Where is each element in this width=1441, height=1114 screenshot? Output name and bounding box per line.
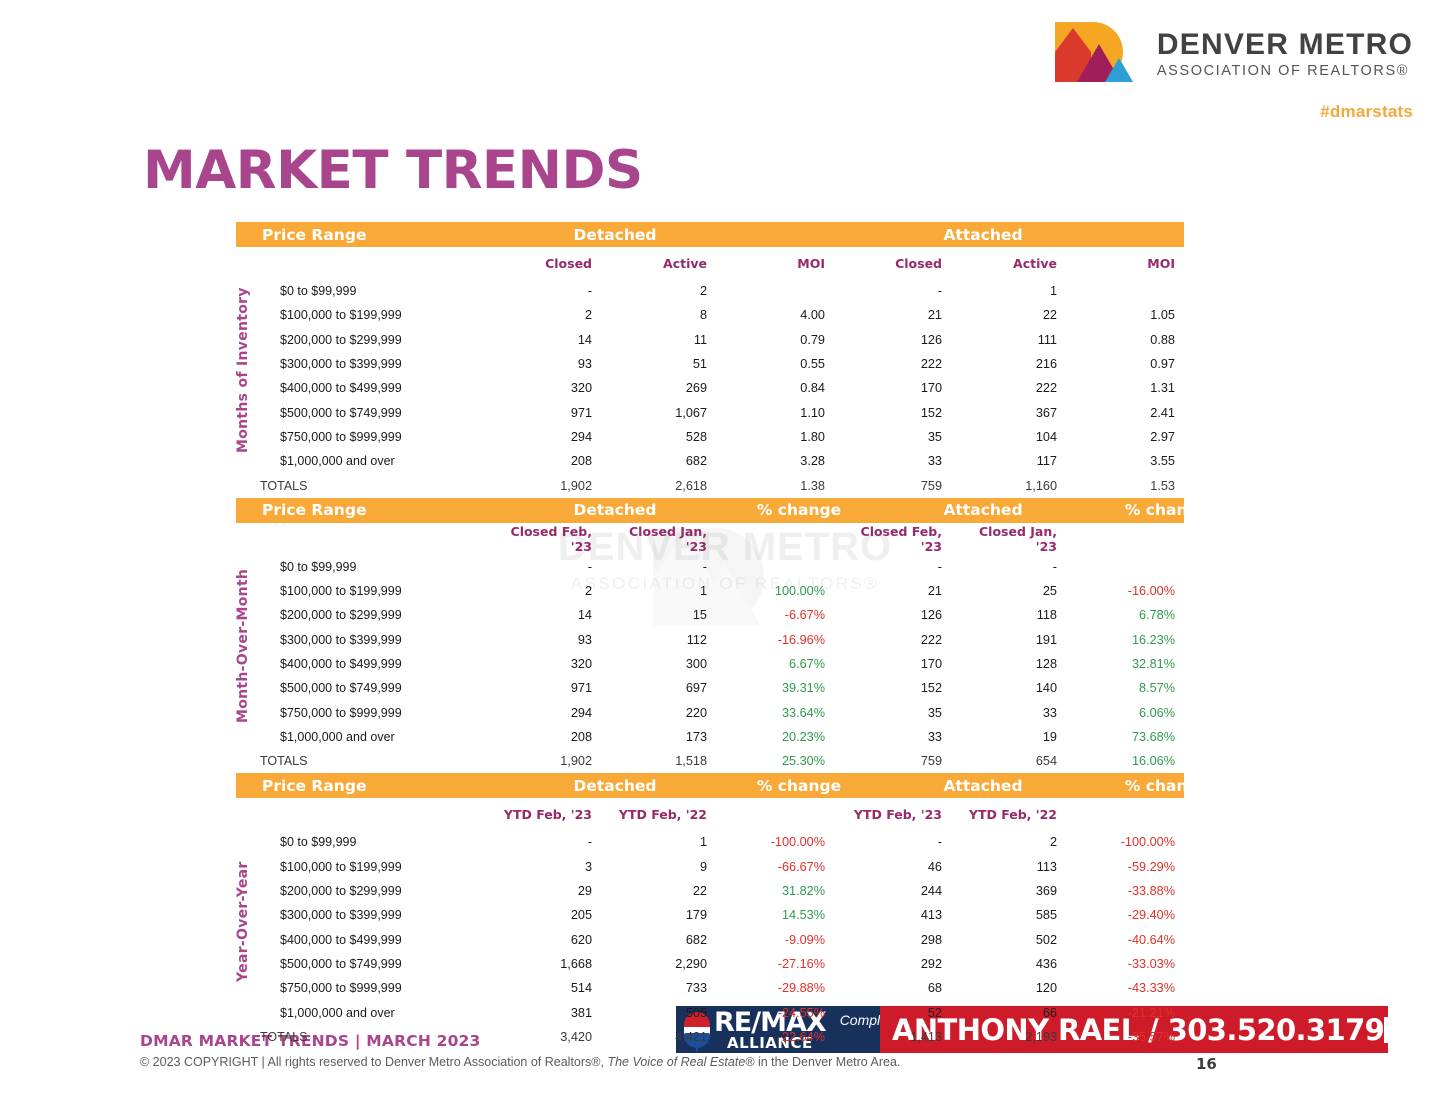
subheader-attached-jan: Closed Jan, '23	[956, 524, 1071, 554]
cell-detached-current: -	[491, 560, 606, 574]
cell-attached-pct-change: -16.00%	[1071, 584, 1191, 598]
cell-attached-pct-change: 8.57%	[1071, 681, 1191, 695]
cell-attached-prior: 654	[956, 754, 1071, 768]
equal-housing-icon: ⌂	[1384, 1017, 1388, 1043]
cell-detached-current: 93	[491, 633, 606, 647]
cell-attached-active: 111	[956, 333, 1071, 347]
table-row: $1,000,000 and over381505-24.55%5266-21.…	[236, 1000, 1184, 1024]
cell-detached-pct-change: 25.30%	[721, 754, 841, 768]
cell-attached-current: 21	[841, 584, 956, 598]
cell-attached-current: 68	[841, 981, 956, 995]
logo-subtitle: ASSOCIATION OF REALTORS®	[1157, 63, 1413, 79]
band-attached: Attached	[859, 777, 1107, 795]
band-attached: Attached	[859, 501, 1107, 519]
band-detached: Detached	[491, 226, 739, 244]
row-price-range-label: $750,000 to $999,999	[236, 430, 491, 444]
cell-attached-prior: 2,193	[956, 1030, 1071, 1044]
row-price-range-label: $0 to $99,999	[236, 284, 491, 298]
cell-detached-moi: 0.55	[721, 357, 841, 371]
hashtag-label: #dmarstats	[1320, 102, 1413, 122]
band-detached: Detached	[491, 777, 739, 795]
table-row: $400,000 to $499,999620682-9.09%298502-4…	[236, 928, 1184, 952]
cell-detached-pct-change: -66.67%	[721, 860, 841, 874]
cell-attached-pct-change: -33.03%	[1071, 957, 1191, 971]
cell-attached-current: -	[841, 835, 956, 849]
cell-detached-closed: 208	[491, 454, 606, 468]
cell-attached-active: 216	[956, 357, 1071, 371]
row-price-range-label: $300,000 to $399,999	[236, 908, 491, 922]
cell-attached-closed: -	[841, 284, 956, 298]
cell-attached-moi: 3.55	[1071, 454, 1191, 468]
cell-attached-current: 244	[841, 884, 956, 898]
cell-attached-current: 292	[841, 957, 956, 971]
row-price-range-label: $500,000 to $749,999	[236, 681, 491, 695]
row-price-range-label: $750,000 to $999,999	[236, 706, 491, 720]
cell-attached-current: 35	[841, 706, 956, 720]
cell-attached-active: 1,160	[956, 479, 1071, 493]
cell-detached-pct-change: 39.31%	[721, 681, 841, 695]
cell-detached-closed: -	[491, 284, 606, 298]
cell-attached-prior: 33	[956, 706, 1071, 720]
band-price-range: Price Range	[236, 501, 491, 519]
cell-detached-active: 8	[606, 308, 721, 322]
cell-attached-current: 152	[841, 681, 956, 695]
cell-attached-prior: 436	[956, 957, 1071, 971]
cell-attached-moi: 2.41	[1071, 406, 1191, 420]
subheader-detached-ytd22: YTD Feb, '22	[606, 807, 721, 822]
cell-detached-current: 1,668	[491, 957, 606, 971]
cell-detached-pct-change: -16.96%	[721, 633, 841, 647]
row-price-range-label: $400,000 to $499,999	[236, 657, 491, 671]
rows-year-over-year: $0 to $99,999-1-100.00%-2-100.00%$100,00…	[236, 830, 1184, 1049]
cell-attached-current: 1,413	[841, 1030, 956, 1044]
row-price-range-label: $500,000 to $749,999	[236, 406, 491, 420]
cell-detached-pct-change: -9.09%	[721, 933, 841, 947]
cell-detached-pct-change: 100.00%	[721, 584, 841, 598]
cell-attached-prior: 25	[956, 584, 1071, 598]
cell-detached-active: 2,618	[606, 479, 721, 493]
cell-attached-moi: 2.97	[1071, 430, 1191, 444]
cell-attached-pct-change: 6.06%	[1071, 706, 1191, 720]
cell-detached-prior: 9	[606, 860, 721, 874]
cell-attached-moi: 0.88	[1071, 333, 1191, 347]
cell-detached-moi: 1.80	[721, 430, 841, 444]
cell-detached-pct-change: -6.67%	[721, 608, 841, 622]
subheader-attached-closed: Closed	[841, 256, 956, 271]
row-price-range-label: $100,000 to $199,999	[236, 308, 491, 322]
cell-detached-closed: 294	[491, 430, 606, 444]
table-row: $400,000 to $499,9993202690.841702221.31	[236, 376, 1184, 400]
band-price-range: Price Range	[236, 777, 491, 795]
cell-attached-prior: -	[956, 560, 1071, 574]
cell-attached-pct-change: 6.78%	[1071, 608, 1191, 622]
band-pct-change-attached: % change	[1107, 777, 1227, 795]
band-price-range: Price Range	[236, 226, 491, 244]
side-label-months-of-inventory: Months of Inventory	[235, 287, 251, 453]
subheader-row-month-over-month: Closed Feb, '23 Closed Jan, '23 Closed F…	[236, 523, 1184, 555]
table-row: $1,000,000 and over20817320.23%331973.68…	[236, 725, 1184, 749]
row-price-range-label: TOTALS	[236, 479, 491, 493]
subheader-attached-ytd23: YTD Feb, '23	[841, 807, 956, 822]
section-year-over-year: Year-Over-Year Price Range Detached % ch…	[236, 773, 1184, 1049]
table-row: $500,000 to $749,9991,6682,290-27.16%292…	[236, 952, 1184, 976]
cell-detached-prior: 1	[606, 584, 721, 598]
cell-detached-pct-change: 14.53%	[721, 908, 841, 922]
row-price-range-label: TOTALS	[236, 754, 491, 768]
cell-attached-closed: 152	[841, 406, 956, 420]
table-row: $100,000 to $199,99921100.00%2125-16.00%	[236, 579, 1184, 603]
rows-month-over-month: $0 to $99,999----$100,000 to $199,999211…	[236, 555, 1184, 774]
cell-detached-closed: 1,902	[491, 479, 606, 493]
band-pct-change-detached: % change	[739, 501, 859, 519]
table-row: $400,000 to $499,9993203006.67%17012832.…	[236, 652, 1184, 676]
row-price-range-label: $500,000 to $749,999	[236, 957, 491, 971]
table-row: $0 to $99,999----	[236, 555, 1184, 579]
brand-logo-block: DENVER METRO ASSOCIATION OF REALTORS® #d…	[1047, 18, 1413, 122]
row-price-range-label: $200,000 to $299,999	[236, 608, 491, 622]
page-number: 16	[1196, 1055, 1217, 1073]
row-price-range-label: $0 to $99,999	[236, 560, 491, 574]
row-price-range-label: $200,000 to $299,999	[236, 333, 491, 347]
subheader-detached-feb: Closed Feb, '23	[491, 524, 606, 554]
cell-detached-current: 205	[491, 908, 606, 922]
cell-detached-current: -	[491, 835, 606, 849]
cell-attached-current: 126	[841, 608, 956, 622]
cell-detached-active: 2	[606, 284, 721, 298]
cell-attached-pct-change: -35.57%	[1071, 1030, 1191, 1044]
cell-detached-prior: 220	[606, 706, 721, 720]
cell-attached-prior: 140	[956, 681, 1071, 695]
cell-attached-closed: 21	[841, 308, 956, 322]
table-row: $750,000 to $999,99929422033.64%35336.06…	[236, 700, 1184, 724]
cell-detached-pct-change: -24.55%	[721, 1006, 841, 1020]
cell-detached-prior: 1,518	[606, 754, 721, 768]
copyright-text-2: in the Denver Metro Area.	[754, 1055, 900, 1069]
cell-attached-active: 1	[956, 284, 1071, 298]
cell-detached-moi: 4.00	[721, 308, 841, 322]
copyright-text-1: © 2023 COPYRIGHT | All rights reserved t…	[140, 1055, 607, 1069]
table-row: $100,000 to $199,999284.0021221.05	[236, 303, 1184, 327]
side-label-month-over-month: Month-Over-Month	[235, 568, 251, 722]
cell-detached-prior: 697	[606, 681, 721, 695]
row-price-range-label: $750,000 to $999,999	[236, 981, 491, 995]
cell-detached-prior: 4,421	[606, 1030, 721, 1044]
cell-detached-moi: 0.84	[721, 381, 841, 395]
page-title: MARKET TRENDS	[143, 140, 643, 201]
cell-detached-current: 381	[491, 1006, 606, 1020]
cell-attached-moi: 1.31	[1071, 381, 1191, 395]
band-header-month-over-month: Price Range Detached % change Attached %…	[236, 498, 1184, 523]
cell-detached-prior: 1	[606, 835, 721, 849]
cell-attached-moi: 0.97	[1071, 357, 1191, 371]
row-price-range-label: $100,000 to $199,999	[236, 584, 491, 598]
subheader-detached-moi: MOI	[721, 256, 841, 271]
cell-detached-current: 320	[491, 657, 606, 671]
row-price-range-label: $300,000 to $399,999	[236, 357, 491, 371]
cell-attached-pct-change: -33.88%	[1071, 884, 1191, 898]
row-price-range-label: $400,000 to $499,999	[236, 933, 491, 947]
cell-attached-active: 22	[956, 308, 1071, 322]
cell-attached-closed: 222	[841, 357, 956, 371]
section-month-over-month: Month-Over-Month Price Range Detached % …	[236, 498, 1184, 774]
band-header-months-of-inventory: Price Range Detached Attached	[236, 222, 1184, 247]
cell-attached-moi: 1.53	[1071, 479, 1191, 493]
cell-attached-active: 367	[956, 406, 1071, 420]
cell-detached-pct-change: -29.88%	[721, 981, 841, 995]
cell-detached-active: 528	[606, 430, 721, 444]
cell-detached-pct-change: 20.23%	[721, 730, 841, 744]
subheader-attached-moi: MOI	[1071, 256, 1191, 271]
subheader-attached-active: Active	[956, 256, 1071, 271]
cell-attached-current: 298	[841, 933, 956, 947]
cell-detached-pct-change: -100.00%	[721, 835, 841, 849]
cell-attached-active: 104	[956, 430, 1071, 444]
cell-detached-current: 620	[491, 933, 606, 947]
cell-attached-prior: 191	[956, 633, 1071, 647]
cell-attached-current: 52	[841, 1006, 956, 1020]
cell-attached-active: 222	[956, 381, 1071, 395]
table-row: $200,000 to $299,99914110.791261110.88	[236, 328, 1184, 352]
table-row: $100,000 to $199,99939-66.67%46113-59.29…	[236, 855, 1184, 879]
cell-detached-current: 2	[491, 584, 606, 598]
cell-attached-pct-change: 73.68%	[1071, 730, 1191, 744]
cell-attached-current: 170	[841, 657, 956, 671]
cell-attached-pct-change: 16.23%	[1071, 633, 1191, 647]
table-row: TOTALS1,9021,51825.30%75965416.06%	[236, 749, 1184, 773]
rows-months-of-inventory: $0 to $99,999-2-1$100,000 to $199,999284…	[236, 279, 1184, 498]
cell-attached-prior: 113	[956, 860, 1071, 874]
cell-detached-active: 11	[606, 333, 721, 347]
table-row: $500,000 to $749,9999711,0671.101523672.…	[236, 400, 1184, 424]
band-pct-change-detached: % change	[739, 777, 859, 795]
cell-detached-prior: 179	[606, 908, 721, 922]
cell-attached-moi: 1.05	[1071, 308, 1191, 322]
row-price-range-label: $100,000 to $199,999	[236, 860, 491, 874]
cell-attached-pct-change: 32.81%	[1071, 657, 1191, 671]
table-row: $200,000 to $299,9991415-6.67%1261186.78…	[236, 603, 1184, 627]
cell-detached-prior: 733	[606, 981, 721, 995]
cell-detached-active: 51	[606, 357, 721, 371]
band-header-year-over-year: Price Range Detached % change Attached %…	[236, 773, 1184, 798]
table-row: $0 to $99,999-1-100.00%-2-100.00%	[236, 830, 1184, 854]
cell-attached-closed: 35	[841, 430, 956, 444]
table-row: TOTALS3,4204,421-22.64%1,4132,193-35.57%	[236, 1025, 1184, 1049]
row-price-range-label: $200,000 to $299,999	[236, 884, 491, 898]
cell-attached-active: 117	[956, 454, 1071, 468]
table-row: $300,000 to $399,99993510.552222160.97	[236, 352, 1184, 376]
cell-attached-pct-change: -100.00%	[1071, 835, 1191, 849]
cell-detached-active: 682	[606, 454, 721, 468]
cell-detached-closed: 320	[491, 381, 606, 395]
table-row: $750,000 to $999,999514733-29.88%68120-4…	[236, 976, 1184, 1000]
subheader-attached-ytd22: YTD Feb, '22	[956, 807, 1071, 822]
cell-detached-current: 971	[491, 681, 606, 695]
cell-detached-prior: 22	[606, 884, 721, 898]
subheader-row-year-over-year: YTD Feb, '23 YTD Feb, '22 YTD Feb, '23 Y…	[236, 798, 1184, 830]
row-price-range-label: $400,000 to $499,999	[236, 381, 491, 395]
cell-attached-current: 413	[841, 908, 956, 922]
cell-detached-pct-change: 33.64%	[721, 706, 841, 720]
cell-attached-prior: 502	[956, 933, 1071, 947]
cell-attached-prior: 369	[956, 884, 1071, 898]
row-price-range-label: $1,000,000 and over	[236, 730, 491, 744]
cell-detached-pct-change: -27.16%	[721, 957, 841, 971]
row-price-range-label: $300,000 to $399,999	[236, 633, 491, 647]
band-pct-change-attached: % change	[1107, 501, 1227, 519]
cell-detached-closed: 971	[491, 406, 606, 420]
section-months-of-inventory: Months of Inventory Price Range Detached…	[236, 222, 1184, 498]
cell-detached-pct-change: 31.82%	[721, 884, 841, 898]
cell-attached-prior: 19	[956, 730, 1071, 744]
cell-detached-current: 3,420	[491, 1030, 606, 1044]
cell-detached-current: 208	[491, 730, 606, 744]
table-row: $300,000 to $399,99993112-16.96%22219116…	[236, 628, 1184, 652]
subheader-attached-feb: Closed Feb, '23	[841, 524, 956, 554]
cell-detached-prior: 505	[606, 1006, 721, 1020]
market-trends-tables: Months of Inventory Price Range Detached…	[236, 222, 1184, 1049]
cell-attached-closed: 759	[841, 479, 956, 493]
cell-attached-prior: 66	[956, 1006, 1071, 1020]
agent-icons: ⌂ R	[1384, 1017, 1388, 1043]
subheader-detached-jan: Closed Jan, '23	[606, 524, 721, 554]
logo-row: DENVER METRO ASSOCIATION OF REALTORS®	[1047, 18, 1413, 90]
cell-detached-current: 1,902	[491, 754, 606, 768]
cell-attached-closed: 126	[841, 333, 956, 347]
cell-detached-moi: 3.28	[721, 454, 841, 468]
cell-attached-current: 33	[841, 730, 956, 744]
cell-attached-prior: 118	[956, 608, 1071, 622]
subheader-detached-active: Active	[606, 256, 721, 271]
subheader-detached-closed: Closed	[491, 256, 606, 271]
row-price-range-label: TOTALS	[236, 1030, 491, 1044]
table-row: $1,000,000 and over2086823.28331173.55	[236, 449, 1184, 473]
cell-detached-prior: 2,290	[606, 957, 721, 971]
cell-detached-current: 14	[491, 608, 606, 622]
logo-wordmark: DENVER METRO ASSOCIATION OF REALTORS®	[1157, 29, 1413, 80]
row-price-range-label: $0 to $99,999	[236, 835, 491, 849]
footer-copyright: © 2023 COPYRIGHT | All rights reserved t…	[140, 1055, 900, 1069]
cell-attached-pct-change: 16.06%	[1071, 754, 1191, 768]
cell-detached-current: 514	[491, 981, 606, 995]
cell-detached-closed: 93	[491, 357, 606, 371]
table-row: $0 to $99,999-2-1	[236, 279, 1184, 303]
cell-detached-current: 29	[491, 884, 606, 898]
cell-attached-closed: 170	[841, 381, 956, 395]
cell-detached-current: 294	[491, 706, 606, 720]
cell-detached-prior: 300	[606, 657, 721, 671]
subheader-row-months-of-inventory: Closed Active MOI Closed Active MOI	[236, 247, 1184, 279]
band-attached: Attached	[859, 226, 1107, 244]
cell-detached-prior: 682	[606, 933, 721, 947]
table-row: TOTALS1,9022,6181.387591,1601.53	[236, 473, 1184, 497]
cell-detached-active: 269	[606, 381, 721, 395]
table-row: $200,000 to $299,999292231.82%244369-33.…	[236, 879, 1184, 903]
cell-attached-current: 759	[841, 754, 956, 768]
cell-detached-moi: 0.79	[721, 333, 841, 347]
cell-detached-pct-change: -22.64%	[721, 1030, 841, 1044]
table-row: $500,000 to $749,99997169739.31%1521408.…	[236, 676, 1184, 700]
cell-detached-pct-change: 6.67%	[721, 657, 841, 671]
cell-attached-prior: 128	[956, 657, 1071, 671]
cell-attached-closed: 33	[841, 454, 956, 468]
cell-detached-moi: 1.38	[721, 479, 841, 493]
cell-detached-active: 1,067	[606, 406, 721, 420]
logo-title: DENVER METRO	[1157, 29, 1413, 61]
cell-attached-current: 46	[841, 860, 956, 874]
dmar-logo-icon	[1047, 18, 1139, 90]
cell-detached-prior: 112	[606, 633, 721, 647]
side-label-year-over-year: Year-Over-Year	[235, 861, 251, 982]
cell-detached-closed: 2	[491, 308, 606, 322]
cell-detached-closed: 14	[491, 333, 606, 347]
row-price-range-label: $1,000,000 and over	[236, 1006, 491, 1020]
cell-attached-pct-change: -21.21%	[1071, 1006, 1191, 1020]
cell-attached-prior: 585	[956, 908, 1071, 922]
cell-attached-current: -	[841, 560, 956, 574]
cell-attached-prior: 120	[956, 981, 1071, 995]
cell-attached-current: 222	[841, 633, 956, 647]
cell-detached-prior: 15	[606, 608, 721, 622]
subheader-detached-ytd23: YTD Feb, '23	[491, 807, 606, 822]
cell-detached-prior: 173	[606, 730, 721, 744]
cell-detached-current: 3	[491, 860, 606, 874]
cell-attached-pct-change: -40.64%	[1071, 933, 1191, 947]
table-row: $750,000 to $999,9992945281.80351042.97	[236, 425, 1184, 449]
row-price-range-label: $1,000,000 and over	[236, 454, 491, 468]
cell-attached-pct-change: -59.29%	[1071, 860, 1191, 874]
copyright-italic: The Voice of Real Estate®	[607, 1055, 754, 1069]
cell-attached-pct-change: -29.40%	[1071, 908, 1191, 922]
cell-detached-prior: -	[606, 560, 721, 574]
band-detached: Detached	[491, 501, 739, 519]
table-row: $300,000 to $399,99920517914.53%413585-2…	[236, 903, 1184, 927]
cell-attached-pct-change: -43.33%	[1071, 981, 1191, 995]
cell-detached-moi: 1.10	[721, 406, 841, 420]
cell-attached-prior: 2	[956, 835, 1071, 849]
